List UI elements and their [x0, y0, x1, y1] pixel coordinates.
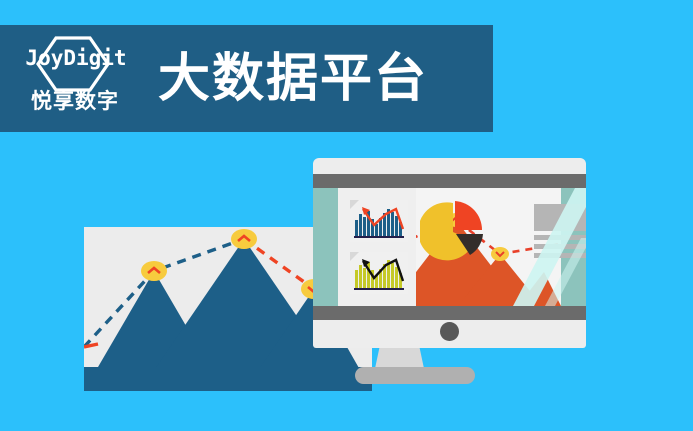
- pie-chart: [420, 198, 490, 266]
- page-title: 大数据平台: [158, 53, 428, 105]
- data-marker: [231, 229, 257, 249]
- mini-chart-card-blue: [350, 200, 408, 242]
- monitor-top-bar: [313, 174, 586, 188]
- power-button-icon[interactable]: [440, 322, 459, 341]
- placeholder-image: [534, 204, 586, 231]
- monitor-bottom-bar: [313, 306, 586, 320]
- placeholder-line: [534, 235, 586, 240]
- header-banner: JoyDigit 悦享数字 大数据平台: [0, 25, 493, 132]
- page-fold-icon: [350, 200, 359, 209]
- poster-canvas: JoyDigit 悦享数字 大数据平台: [0, 0, 693, 431]
- axis-baseline: [354, 236, 404, 238]
- monitor-stand-base: [355, 367, 475, 384]
- brand-logo: JoyDigit 悦享数字: [16, 34, 136, 124]
- monitor-illustration: [313, 158, 586, 348]
- logo-subtitle: 悦享数字: [16, 90, 134, 113]
- mountain-base: [84, 367, 372, 391]
- data-marker: [141, 261, 167, 281]
- mini-chart-card-green: [350, 252, 408, 294]
- monitor-screen: [313, 188, 586, 306]
- page-fold-icon: [350, 252, 359, 261]
- placeholder-line: [534, 244, 586, 249]
- axis-baseline: [354, 288, 404, 290]
- pie-slice-red: [455, 201, 482, 230]
- report-placeholder: [534, 204, 586, 258]
- data-marker: [491, 247, 509, 261]
- placeholder-line: [534, 253, 586, 258]
- logo-wordmark: JoyDigit: [22, 48, 130, 69]
- screen-content: [338, 188, 561, 306]
- mountain-chart-label: mountain-area-chart: [84, 391, 85, 392]
